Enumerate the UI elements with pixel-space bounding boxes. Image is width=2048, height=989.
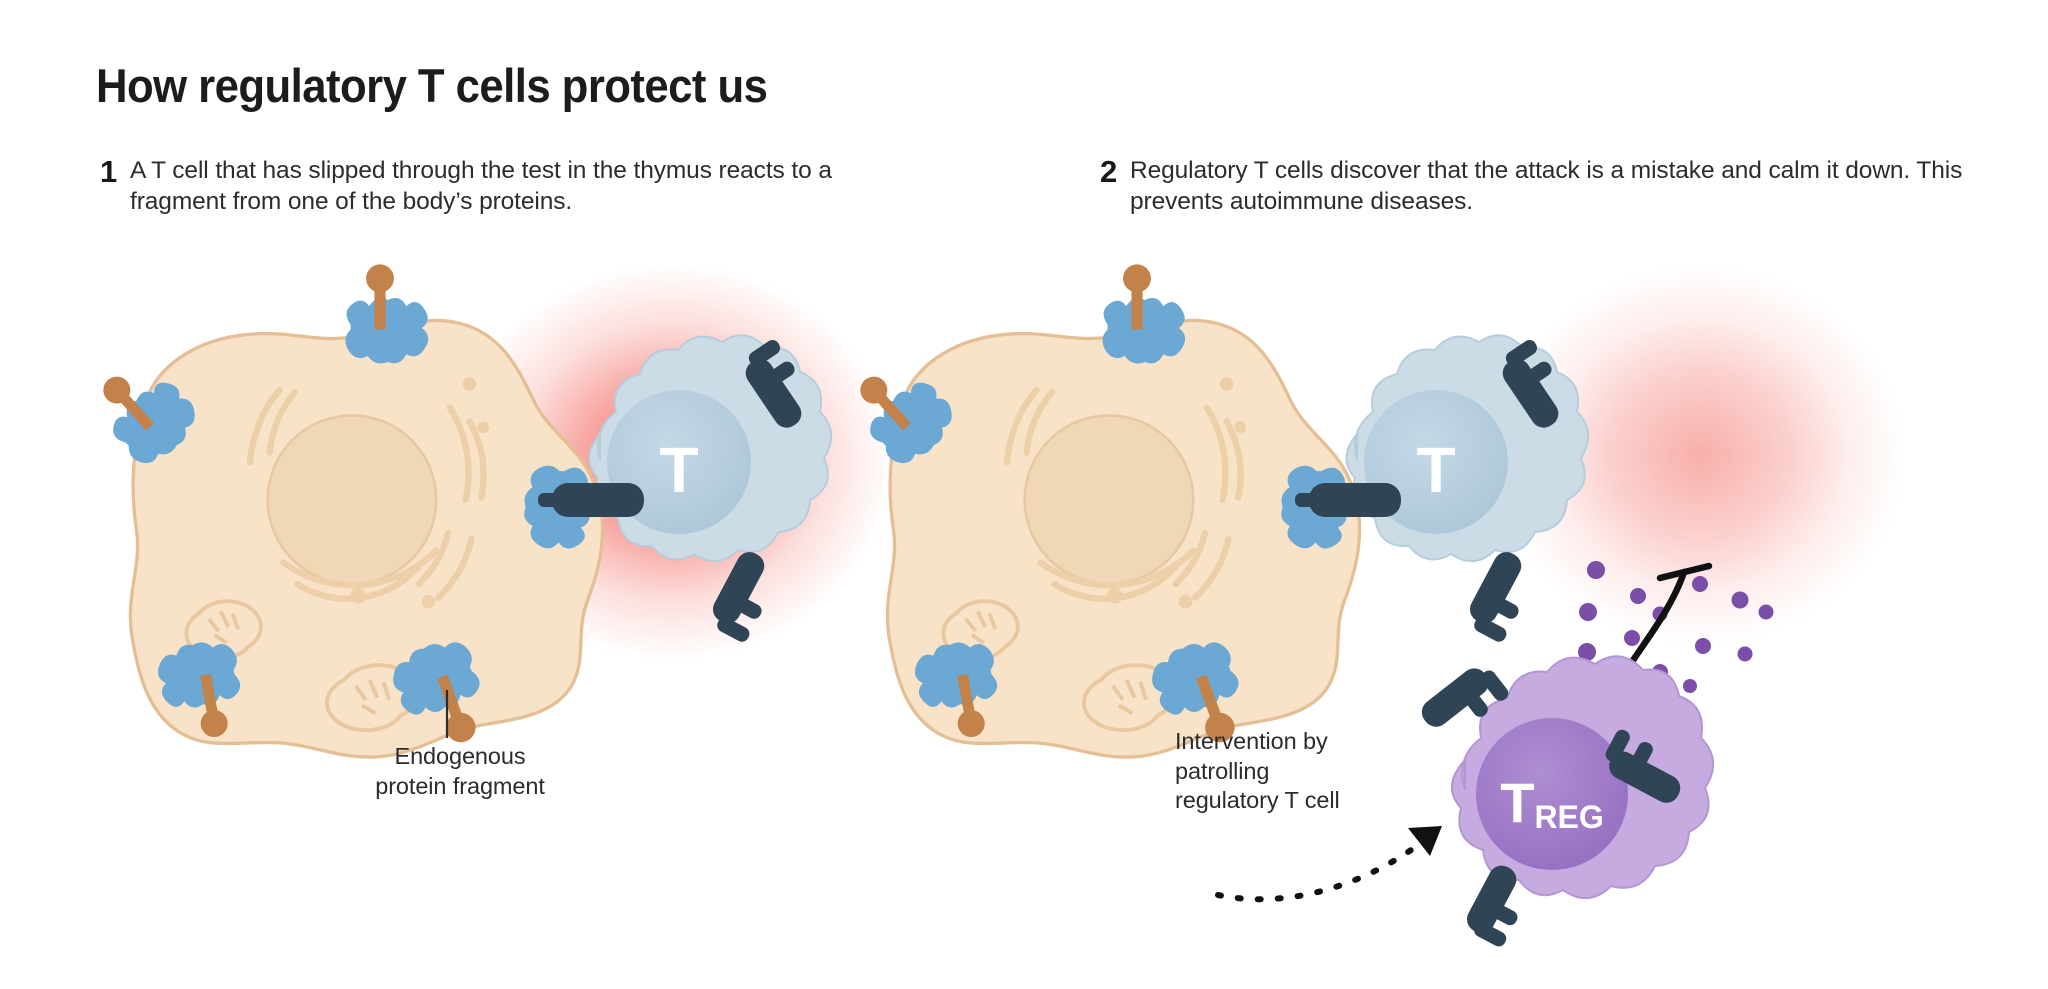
- illustration-canvas: T: [0, 0, 2048, 989]
- caption-line-1: Endogenous protein fragment: [375, 743, 545, 799]
- caption-line-2: Intervention by patrolling regulatory T …: [1175, 728, 1340, 813]
- patrolling-arrow: [1218, 836, 1430, 899]
- t-cell-label-1: T: [659, 434, 698, 506]
- t-cell-label-2: T: [1416, 434, 1455, 506]
- mhc-antigen-top-1: [345, 264, 428, 363]
- caption-intervention: Intervention by patrolling regulatory T …: [1175, 727, 1405, 816]
- mhc-antigen-top-2: [1102, 264, 1185, 363]
- infographic-root: How regulatory T cells protect us 1 A T …: [0, 0, 2048, 989]
- panel-2-illustration: T: [840, 264, 1905, 948]
- panel-1-illustration: T: [83, 264, 892, 758]
- caption-endogenous-fragment: Endogenous protein fragment: [345, 742, 575, 801]
- t-cell-2: T: [1346, 335, 1588, 561]
